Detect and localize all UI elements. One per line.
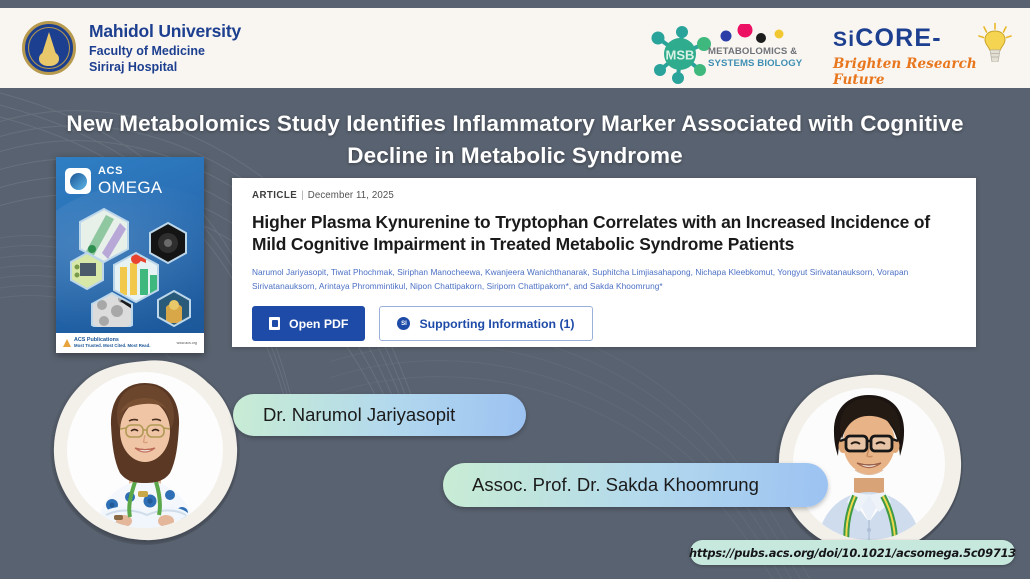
name-label-sakda-text: Assoc. Prof. Dr. Sakda Khoomrung [472, 474, 759, 496]
portrait-narumol-illustration [50, 355, 240, 545]
article-kicker: ARTICLE|December 11, 2025 [252, 190, 956, 201]
pdf-icon [269, 317, 280, 330]
sicore-si: Si [833, 28, 855, 51]
sicore-m-logo: SiCORE- Brighten Research Future [833, 26, 1018, 84]
acs-logo-icon [65, 168, 91, 194]
name-label-sakda: Assoc. Prof. Dr. Sakda Khoomrung [443, 463, 828, 507]
msb-line1: METABOLOMICS & [708, 46, 802, 58]
article-type-label: ARTICLE [252, 190, 297, 201]
cover-url: www.acs.org [177, 341, 197, 345]
kicker-separator: | [301, 190, 304, 201]
header-bar: Mahidol University Faculty of Medicine S… [0, 8, 1030, 88]
open-pdf-button[interactable]: Open PDF [252, 306, 365, 341]
msb-logo: MSB METABOLOMICS & SYSTEMS BIOLOGY [648, 24, 808, 84]
msb-line2: SYSTEMS BIOLOGY [708, 58, 802, 70]
university-faculty: Faculty of Medicine [89, 43, 241, 59]
article-url-badge[interactable]: https://pubs.acs.org/doi/10.1021/acsomeg… [690, 540, 1015, 565]
cover-publisher-sub: Most Trusted. Most Cited. Most Read. [74, 343, 150, 348]
cover-hexagon-artwork [62, 205, 198, 327]
name-label-narumol: Dr. Narumol Jariyasopit [233, 394, 526, 436]
article-date: December 11, 2025 [308, 190, 394, 201]
supporting-information-button[interactable]: SI Supporting Information (1) [379, 306, 592, 341]
sicore-core: CORE- [855, 24, 942, 52]
university-name: Mahidol University [89, 21, 241, 41]
article-url-text: https://pubs.acs.org/doi/10.1021/acsomeg… [689, 546, 1016, 560]
poster-canvas: Mahidol University Faculty of Medicine S… [0, 0, 1030, 579]
mahidol-university-logo: Mahidol University Faculty of Medicine S… [22, 21, 241, 75]
journal-brand-bottom: OMEGA [98, 179, 162, 196]
article-authors[interactable]: Narumol Jariyasopit, Tiwat Phochmak, Sir… [252, 266, 956, 293]
lightbulb-icon [978, 22, 1012, 62]
journal-brand-top: ACS [98, 166, 162, 177]
mahidol-seal-icon [22, 21, 76, 75]
svg-text:MSB: MSB [666, 48, 695, 63]
article-card: ARTICLE|December 11, 2025 Higher Plasma … [232, 178, 976, 347]
university-hospital: Siriraj Hospital [89, 59, 241, 75]
avatar-narumol [50, 355, 240, 545]
open-pdf-label: Open PDF [289, 317, 348, 331]
supporting-info-icon: SI [397, 317, 410, 330]
article-actions: Open PDF SI Supporting Information (1) [252, 306, 956, 341]
article-title[interactable]: Higher Plasma Kynurenine to Tryptophan C… [252, 211, 956, 255]
supporting-information-label: Supporting Information (1) [419, 317, 574, 331]
acs-publications-mark: ACS Publications Most Trusted. Most Cite… [63, 338, 150, 349]
journal-cover-image: ACS OMEGA [56, 157, 204, 353]
name-label-narumol-text: Dr. Narumol Jariyasopit [263, 404, 455, 426]
